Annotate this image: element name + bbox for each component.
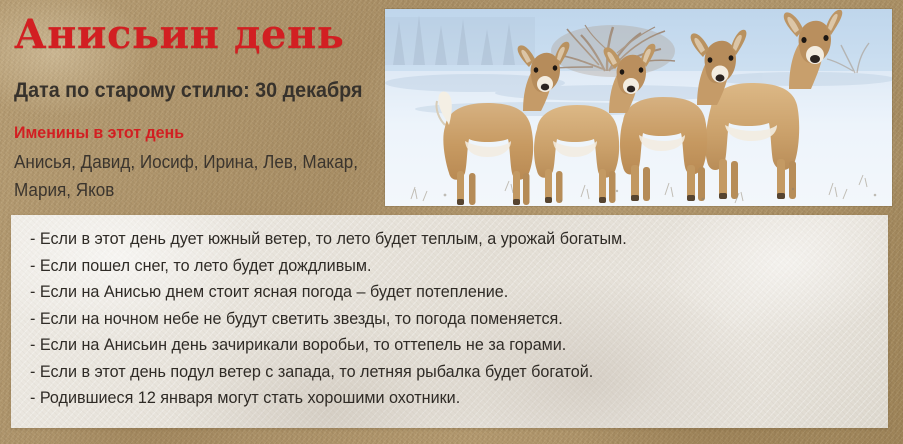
page-title: Анисьин день xyxy=(14,12,344,58)
sign-line: - Если в этот день подул ветер с запада,… xyxy=(30,359,834,386)
deer-photo-illustration xyxy=(385,9,892,206)
sign-line: - Если пошел снег, то лето будет дождлив… xyxy=(30,253,834,280)
sign-line: - Если на Анисьин день зачирикали воробь… xyxy=(30,332,834,359)
deer-photo xyxy=(385,9,892,206)
nameday-names: Анисья, Давид, Иосиф, Ирина, Лев, Макар,… xyxy=(14,148,366,204)
old-style-date: Дата по старому стилю: 30 декабря xyxy=(14,78,362,104)
poster-root: Анисьин день Дата по старому стилю: 30 д… xyxy=(0,0,903,444)
signs-list: - Если в этот день дует южный ветер, то … xyxy=(30,226,876,412)
sign-line: - Если на Анисью днем стоит ясная погода… xyxy=(30,279,834,306)
sign-line: - Если на ночном небе не будут светить з… xyxy=(30,306,834,333)
nameday-label: Именины в этот день xyxy=(14,122,184,143)
sign-line: - Родившиеся 12 января могут стать хорош… xyxy=(30,385,834,412)
sign-line: - Если в этот день дует южный ветер, то … xyxy=(30,226,834,253)
signs-panel: - Если в этот день дует южный ветер, то … xyxy=(11,215,888,428)
